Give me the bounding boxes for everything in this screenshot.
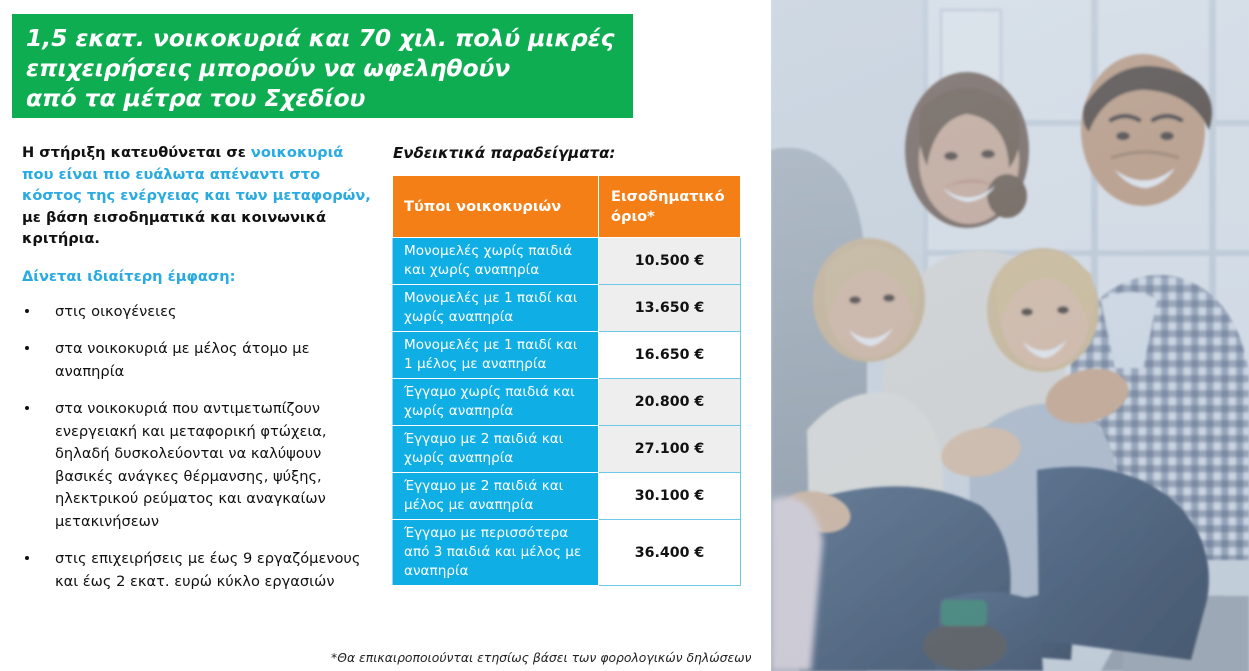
intro-part2: με βάση εισοδηματικά και κοινωνικά κριτή… — [22, 209, 326, 248]
list-item: στα νοικοκυριά που αντιμετωπίζουν ενεργε… — [22, 398, 372, 533]
table-row: Έγγαμο με 2 παιδιά και χωρίς αναπηρία 27… — [393, 426, 741, 473]
slide-root: 1,5 εκατ. νοικοκυριά και 70 χιλ. πολύ μι… — [0, 0, 1249, 671]
bullet-text: στα νοικοκυριά με μέλος άτομο με αναπηρί… — [55, 340, 309, 380]
table-row: Μονομελές με 1 παιδί και χωρίς αναπηρία … — [393, 285, 741, 332]
column-header-household-type: Τύποι νοικοκυριών — [393, 176, 599, 238]
bullet-list: στις οικογένειες στα νοικοκυριά με μέλος… — [22, 301, 372, 594]
row-value: 36.400 € — [599, 520, 741, 586]
bullet-text: στις οικογένειες — [55, 303, 177, 320]
income-limits-table: Τύποι νοικοκυριών Εισοδηματικό όριο* Μον… — [392, 175, 741, 586]
row-label: Έγγαμο με 2 παιδιά και χωρίς αναπηρία — [393, 426, 599, 473]
bullet-dot-icon — [25, 556, 29, 560]
footnote: *Θα επικαιροποιούνται ετησίως βάσει των … — [331, 650, 751, 665]
bullet-dot-icon — [25, 346, 29, 350]
headline-line-3: από τα μέτρα του Σχεδίου — [26, 83, 619, 113]
row-value: 13.650 € — [599, 285, 741, 332]
row-label: Μονομελές με 1 παιδί και χωρίς αναπηρία — [393, 285, 599, 332]
row-value: 27.100 € — [599, 426, 741, 473]
table-caption: Ενδεικτικά παραδείγματα: — [393, 144, 615, 162]
row-value: 16.650 € — [599, 332, 741, 379]
row-value: 10.500 € — [599, 238, 741, 285]
family-photo — [771, 0, 1249, 671]
list-item: στις οικογένειες — [22, 301, 372, 324]
row-label: Έγγαμο με περισσότερα από 3 παιδιά και μ… — [393, 520, 599, 586]
table-row: Έγγαμο χωρίς παιδιά και χωρίς αναπηρία 2… — [393, 379, 741, 426]
row-label: Έγγαμο με 2 παιδιά και μέλος με αναπηρία — [393, 473, 599, 520]
left-text-column: Η στήριξη κατευθύνεται σε νοικοκυριά που… — [22, 142, 372, 608]
row-label: Έγγαμο χωρίς παιδιά και χωρίς αναπηρία — [393, 379, 599, 426]
row-label: Μονομελές χωρίς παιδιά και χωρίς αναπηρί… — [393, 238, 599, 285]
emphasis-heading: Δίνεται ιδιαίτερη έμφαση: — [22, 266, 372, 287]
table-header-row: Τύποι νοικοκυριών Εισοδηματικό όριο* — [393, 176, 741, 238]
headline-banner: 1,5 εκατ. νοικοκυριά και 70 χιλ. πολύ μι… — [12, 14, 633, 118]
list-item: στις επιχειρήσεις με έως 9 εργαζόμενους … — [22, 548, 372, 593]
list-item: στα νοικοκυριά με μέλος άτομο με αναπηρί… — [22, 338, 372, 383]
column-header-income-limit: Εισοδηματικό όριο* — [599, 176, 741, 238]
table-row: Μονομελές χωρίς παιδιά και χωρίς αναπηρί… — [393, 238, 741, 285]
headline-line-1: 1,5 εκατ. νοικοκυριά και 70 χιλ. πολύ μι… — [26, 23, 619, 53]
row-value: 20.800 € — [599, 379, 741, 426]
table-row: Μονομελές με 1 παιδί και 1 μέλος με αναπ… — [393, 332, 741, 379]
table-row: Έγγαμο με περισσότερα από 3 παιδιά και μ… — [393, 520, 741, 586]
bullet-dot-icon — [25, 309, 29, 313]
intro-part1: Η στήριξη κατευθύνεται σε — [22, 144, 251, 161]
bullet-dot-icon — [25, 406, 29, 410]
headline-line-2: επιχειρήσεις μπορούν να ωφεληθούν — [26, 53, 619, 83]
row-label: Μονομελές με 1 παιδί και 1 μέλος με αναπ… — [393, 332, 599, 379]
row-value: 30.100 € — [599, 473, 741, 520]
intro-paragraph: Η στήριξη κατευθύνεται σε νοικοκυριά που… — [22, 142, 372, 250]
bullet-text: στα νοικοκυριά που αντιμετωπίζουν ενεργε… — [55, 400, 327, 530]
bullet-text: στις επιχειρήσεις με έως 9 εργαζόμενους … — [55, 550, 360, 590]
table-row: Έγγαμο με 2 παιδιά και μέλος με αναπηρία… — [393, 473, 741, 520]
